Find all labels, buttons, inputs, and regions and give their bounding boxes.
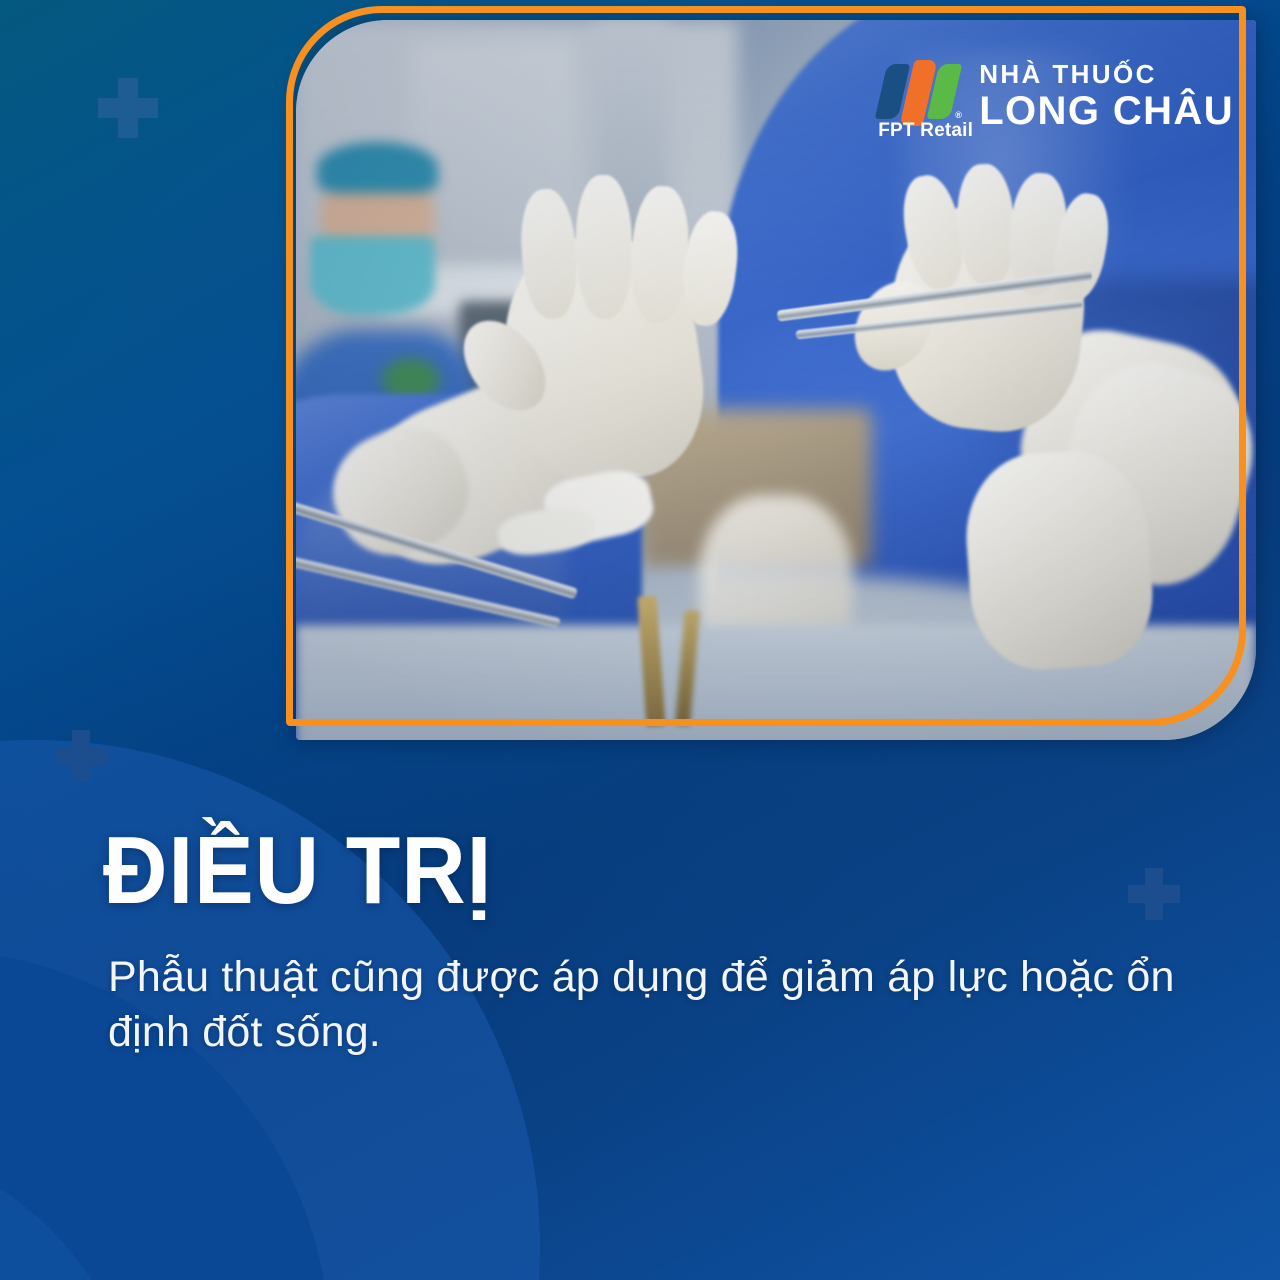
hero-photo-card: ® FPT Retail NHÀ THUỐC LONG CHÂU [296,20,1256,740]
brand-line-2: LONG CHÂU [979,90,1234,133]
brand-line-1: NHÀ THUỐC [979,60,1234,89]
fpt-retail-label: FPT Retail [878,120,973,142]
medical-cross-icon [1128,868,1180,920]
fpt-logo-icon: ® FPT Retail [880,58,966,142]
registered-trademark-icon: ® [955,110,962,120]
medical-cross-icon [55,730,107,782]
brand-logo: ® FPT Retail NHÀ THUỐC LONG CHÂU [880,58,1234,142]
page-body-text: Phẫu thuật cũng được áp dụng để giảm áp … [108,950,1228,1060]
page-title: ĐIỀU TRỊ [103,823,492,919]
medical-cross-icon [98,78,158,138]
brand-wordmark: NHÀ THUỐC LONG CHÂU [979,58,1234,133]
